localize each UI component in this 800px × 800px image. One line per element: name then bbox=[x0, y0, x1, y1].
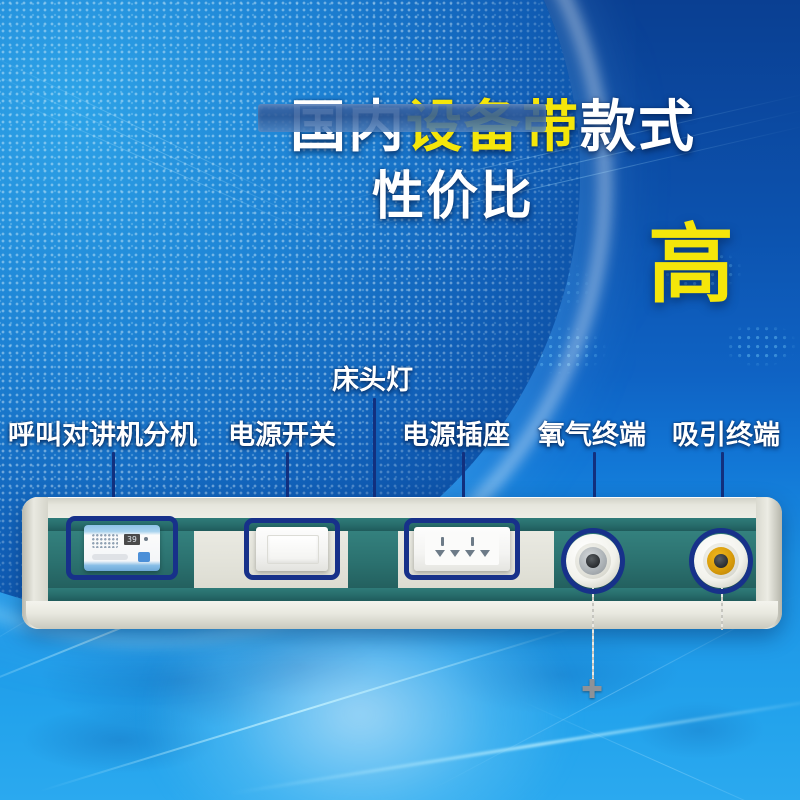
face-teal-section-mid bbox=[348, 531, 398, 588]
callout-label-suction: 吸引终端 bbox=[672, 413, 780, 452]
highlight-box-intercom bbox=[66, 516, 178, 580]
panel-glass-bar bbox=[258, 104, 546, 132]
highlight-circle-suction bbox=[689, 528, 753, 594]
callout-label-oxygen: 氧气终端 bbox=[538, 413, 646, 452]
callout-label-bed-lamp: 床头灯 bbox=[332, 358, 413, 397]
callout-label-power-switch: 电源开关 bbox=[228, 413, 336, 452]
panel-stripe-bottom bbox=[48, 588, 756, 601]
callout-label-intercom: 呼叫对讲机分机 bbox=[8, 413, 197, 452]
callout-label-power-socket: 电源插座 bbox=[402, 413, 510, 452]
pull-cord-suction[interactable] bbox=[721, 588, 723, 630]
highlight-circle-oxygen bbox=[561, 528, 625, 594]
highlight-box-power-switch bbox=[244, 518, 340, 580]
poster-canvas: 国内设备带款式 性价比 高 呼叫对讲机分机 电源开关 床头灯 电源插座 氧气终端… bbox=[0, 0, 800, 800]
cross-handle-icon[interactable]: ✚ bbox=[578, 676, 606, 702]
panel-bottom-roll bbox=[26, 601, 778, 629]
pull-cord-oxygen[interactable] bbox=[592, 588, 594, 684]
highlight-box-power-socket bbox=[404, 518, 520, 580]
